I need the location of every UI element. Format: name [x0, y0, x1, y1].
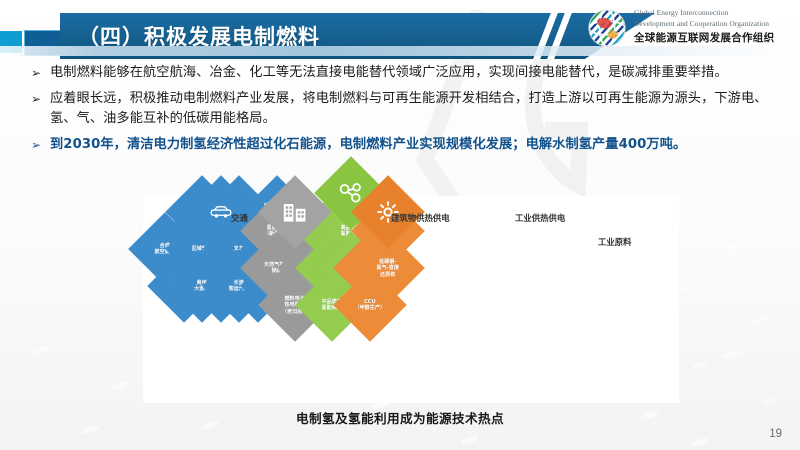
figure-caption: 电制氢及氢能利用成为能源技术热点	[0, 408, 800, 427]
bullet-text-3: 到2030年，清洁电力制氢经济性超过化石能源，电制燃料产业实现规模化发展；电解水…	[50, 135, 776, 156]
figure-panel: 城市交通小型车短程中型车城市配送用轻型卡车/货车区域运输用中型卡车区域运输用客运…	[143, 196, 679, 403]
bullet-item-2: ➢ 应着眼长远，积极推动电制燃料产业发展，将电制燃料与可再生能源开发相结合，打造…	[28, 89, 776, 130]
bullet-arrow-icon: ➢	[31, 90, 41, 108]
category-label-3: 工业供热供电	[515, 212, 565, 224]
diagram-tile-label: CCU（甲醇生产）	[344, 299, 396, 312]
diamond-matrix-diagram: 城市交通小型车短程中型车城市配送用轻型卡车/货车区域运输用中型卡车区域运输用客运…	[143, 196, 679, 403]
bullet-text-1: 电制燃料能够在航空航海、冶金、化工等无法直接电能替代领域广泛应用，实现间接电能替…	[50, 63, 776, 84]
category-label-4: 工业原料	[598, 236, 632, 248]
organization-logo: Global Energy Interconnection Developmen…	[586, 4, 798, 52]
globe-icon	[586, 7, 628, 49]
category-label-2: 建筑物供热供电	[391, 212, 450, 224]
bullet-item-3: ➢ 到2030年，清洁电力制氢经济性超过化石能源，电制燃料产业实现规模化发展；电…	[28, 135, 776, 156]
category-label-1: 交通	[231, 212, 248, 224]
logo-english-line-2: Development and Cooperation Organization	[634, 19, 769, 28]
slide-root: （四）积极发展电制燃料	[0, 0, 800, 450]
bullet-list: ➢ 电制燃料能够在航空航海、冶金、化工等无法直接电能替代领域广泛应用，实现间接电…	[28, 63, 776, 160]
bullet-arrow-icon: ➢	[31, 136, 41, 154]
logo-english-line-1: Global Energy Interconnection	[634, 8, 728, 17]
bullet-text-2: 应着眼长远，积极推动电制燃料产业发展，将电制燃料与可再生能源开发相结合，打造上游…	[50, 89, 776, 130]
bullet-item-1: ➢ 电制燃料能够在航空航海、冶金、化工等无法直接电能替代领域广泛应用，实现间接电…	[28, 63, 776, 84]
bullet-arrow-icon: ➢	[31, 64, 41, 82]
page-number: 19	[769, 428, 782, 440]
logo-chinese-name: 全球能源互联网发展合作组织	[634, 30, 774, 45]
